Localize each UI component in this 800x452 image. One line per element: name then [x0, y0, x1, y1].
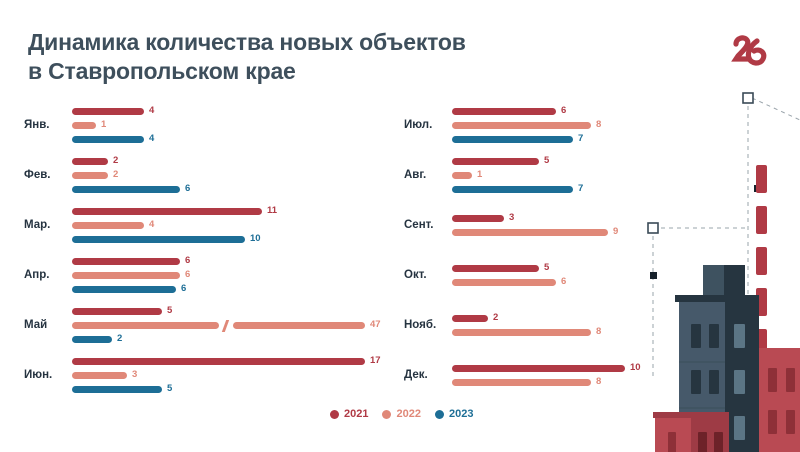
- month-label: Фев.: [24, 169, 70, 181]
- bar-2021: [452, 215, 504, 222]
- month-group: Июн.1735: [24, 350, 404, 400]
- bar-value-label: 5: [167, 306, 172, 316]
- page-title: Динамика количества новых объектов в Ста…: [28, 28, 568, 87]
- chart-column-right: Июл.687Авг.517Сент.39Окт.56Нояб.28Дек.10…: [404, 100, 664, 400]
- month-group: Сент.39: [404, 200, 664, 250]
- bar-2021: [452, 315, 488, 322]
- bar-stack: 28: [452, 300, 664, 350]
- bar-row: 8: [452, 375, 664, 389]
- chart-column-left: Янв.414Фев.226Мар.11410Апр.666Май5472Июн…: [24, 100, 404, 400]
- month-group: Июл.687: [404, 100, 664, 150]
- bar-2022: [72, 272, 180, 279]
- bar-row: 47: [72, 318, 404, 332]
- bar-stack: 687: [452, 100, 664, 150]
- month-group: Янв.414: [24, 100, 404, 150]
- bar-value-label: 7: [578, 134, 583, 144]
- bar-row: 10: [452, 361, 664, 375]
- bar-2023: [72, 336, 112, 343]
- bar-2023: [72, 236, 245, 243]
- bar-2022: [72, 172, 108, 179]
- bar-stack: 39: [452, 200, 664, 250]
- bar-2021: [72, 108, 144, 115]
- bar-value-label: 1: [477, 170, 482, 180]
- bar-2023: [72, 136, 144, 143]
- bar-value-label: 3: [509, 213, 514, 223]
- bar-2022: [72, 222, 144, 229]
- bar-value-label: 5: [167, 384, 172, 394]
- bar-value-label: 6: [561, 277, 566, 287]
- bar-row: 7: [452, 182, 664, 196]
- month-label: Янв.: [24, 119, 70, 131]
- bar-2021: [72, 308, 162, 315]
- bar-value-label: 1: [101, 120, 106, 130]
- bar-value-label: 8: [596, 377, 601, 387]
- bar-value-label: 8: [596, 120, 601, 130]
- bar-2023: [72, 386, 162, 393]
- bar-value-label: 9: [613, 227, 618, 237]
- bar-2022: [452, 229, 608, 236]
- bar-stack: 56: [452, 250, 664, 300]
- bar-value-label: 11: [267, 206, 277, 216]
- month-label: Сент.: [404, 219, 450, 231]
- bar-row: 4: [72, 104, 404, 118]
- bar-2022: [452, 329, 591, 336]
- bar-row: 5: [72, 304, 404, 318]
- month-group: Фев.226: [24, 150, 404, 200]
- bar-row: 8: [452, 325, 664, 339]
- infographic-canvas: Динамика количества новых объектов в Ста…: [0, 0, 800, 452]
- bar-row: 5: [452, 154, 664, 168]
- month-group: Май5472: [24, 300, 404, 350]
- bar-stack: 414: [72, 100, 404, 150]
- month-group: Мар.11410: [24, 200, 404, 250]
- legend-dot-icon: [330, 410, 339, 419]
- month-group: Нояб.28: [404, 300, 664, 350]
- month-label: Июл.: [404, 119, 450, 131]
- bar-2021: [72, 158, 108, 165]
- legend-label: 2021: [344, 408, 368, 420]
- month-group: Окт.56: [404, 250, 664, 300]
- bar-stack: 108: [452, 350, 664, 400]
- bar-value-label: 2: [113, 156, 118, 166]
- bar-2022: [452, 279, 556, 286]
- bar-row: 8: [452, 118, 664, 132]
- bar-row: 1: [452, 168, 664, 182]
- axis-break-mark: [222, 320, 229, 332]
- bar-row: 4: [72, 132, 404, 146]
- bar-value-label: 2: [117, 334, 122, 344]
- bar-value-label: 4: [149, 106, 154, 116]
- bar-2021: [452, 365, 625, 372]
- bar-value-label: 4: [149, 134, 154, 144]
- guide-handle-dot-left: [650, 272, 657, 279]
- month-label: Нояб.: [404, 319, 450, 331]
- bar-value-label: 6: [561, 106, 566, 116]
- bar-2021: [452, 158, 539, 165]
- month-label: Апр.: [24, 269, 70, 281]
- month-label: Окт.: [404, 269, 450, 281]
- bar-value-label: 17: [370, 356, 381, 366]
- legend-item-2021[interactable]: 2021: [330, 408, 368, 420]
- bar-segment-left: [72, 322, 219, 329]
- bar-2022: [452, 122, 591, 129]
- bar-value-label: 6: [185, 256, 190, 266]
- title-line-1: Динамика количества новых объектов: [28, 28, 568, 57]
- bar-stack: 5472: [72, 300, 404, 350]
- legend-label: 2022: [396, 408, 420, 420]
- bar-value-label: 5: [544, 263, 549, 273]
- bar-stack: 11410: [72, 200, 404, 250]
- bar-row: 5: [72, 382, 404, 396]
- bar-row: 2: [72, 332, 404, 346]
- bar-row: 6: [72, 268, 404, 282]
- bar-value-label: 4: [149, 220, 154, 230]
- month-group: Дек.108: [404, 350, 664, 400]
- month-label: Мар.: [24, 219, 70, 231]
- bar-row: 6: [72, 182, 404, 196]
- bar-2021: [452, 108, 556, 115]
- bar-row: 7: [452, 132, 664, 146]
- bar-value-label: 6: [185, 184, 190, 194]
- bar-2022: [72, 122, 96, 129]
- bar-value-label: 8: [596, 327, 601, 337]
- buildings-illustration: [635, 80, 800, 452]
- legend-item-2022[interactable]: 2022: [382, 408, 420, 420]
- legend-dot-icon: [382, 410, 391, 419]
- month-group: Апр.666: [24, 250, 404, 300]
- month-label: Июн.: [24, 369, 70, 381]
- legend-item-2023[interactable]: 2023: [435, 408, 473, 420]
- bar-stack: 226: [72, 150, 404, 200]
- bar-value-label: 2: [113, 170, 118, 180]
- bar-value-label: 7: [578, 184, 583, 194]
- bar-row: 6: [72, 254, 404, 268]
- bar-2021: [72, 358, 365, 365]
- bar-row: 6: [452, 104, 664, 118]
- bar-2022: [452, 172, 472, 179]
- bar-segment-right: [233, 322, 365, 329]
- bar-2022: [72, 372, 127, 379]
- logo-26: [724, 28, 778, 76]
- bar-row: 1: [72, 118, 404, 132]
- bar-row: 6: [72, 282, 404, 296]
- bar-2021: [72, 208, 262, 215]
- bar-2021: [452, 265, 539, 272]
- bar-stack: 517: [452, 150, 664, 200]
- bar-row: 3: [72, 368, 404, 382]
- legend-dot-icon: [435, 410, 444, 419]
- bar-value-label: 3: [132, 370, 137, 380]
- bar-2021: [72, 258, 180, 265]
- bar-row: 2: [72, 154, 404, 168]
- bar-row: 10: [72, 232, 404, 246]
- bar-value-label: 2: [493, 313, 498, 323]
- bar-stack: 1735: [72, 350, 404, 400]
- bar-row: 2: [452, 311, 664, 325]
- bar-value-label: 10: [250, 234, 261, 244]
- bar-row: 2: [72, 168, 404, 182]
- month-label: Дек.: [404, 369, 450, 381]
- bar-2022: [72, 322, 365, 329]
- bar-row: 4: [72, 218, 404, 232]
- bar-row: 9: [452, 225, 664, 239]
- bar-row: 11: [72, 204, 404, 218]
- month-label: Авг.: [404, 169, 450, 181]
- bar-row: 17: [72, 354, 404, 368]
- bar-2023: [452, 186, 573, 193]
- month-label: Май: [24, 319, 70, 331]
- bar-2023: [72, 286, 176, 293]
- bar-value-label: 6: [185, 270, 190, 280]
- bar-row: 3: [452, 211, 664, 225]
- month-group: Авг.517: [404, 150, 664, 200]
- guide-handle-left: [648, 223, 658, 233]
- bar-row: 5: [452, 261, 664, 275]
- bar-value-label: 5: [544, 156, 549, 166]
- bar-2023: [72, 186, 180, 193]
- guide-handle-top: [743, 93, 753, 103]
- bar-2022: [452, 379, 591, 386]
- legend-label: 2023: [449, 408, 473, 420]
- bar-2023: [452, 136, 573, 143]
- bar-value-label: 6: [181, 284, 186, 294]
- bar-stack: 666: [72, 250, 404, 300]
- chart-legend: 202120222023: [330, 408, 473, 420]
- title-line-2: в Ставропольском крае: [28, 57, 568, 86]
- bar-row: 6: [452, 275, 664, 289]
- bar-value-label: 47: [370, 320, 381, 330]
